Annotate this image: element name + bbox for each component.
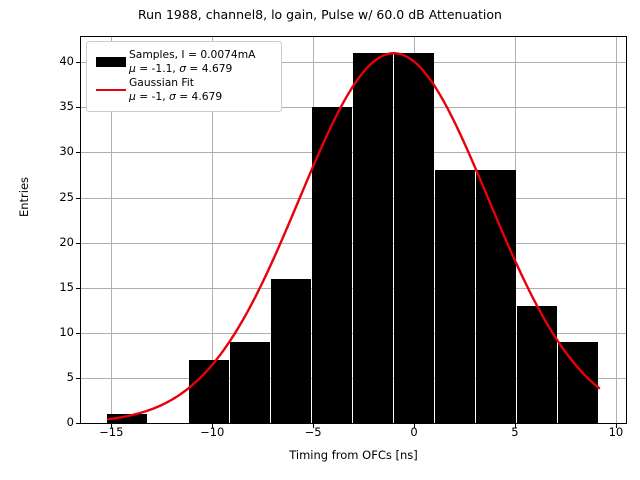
legend-stats-gaussian-fit: μ = -1, σ = 4.679: [129, 90, 222, 104]
y-tick-mark: [76, 107, 80, 108]
y-axis-label: Entries: [17, 137, 31, 257]
chart-title: Run 1988, channel8, lo gain, Pulse w/ 60…: [0, 7, 640, 22]
legend-stats-samples: μ = -1.1, σ = 4.679: [129, 62, 255, 76]
y-tick-mark: [76, 62, 80, 63]
x-tick-label: 10: [586, 425, 640, 439]
y-tick-mark: [76, 378, 80, 379]
x-tick-mark: [515, 424, 516, 428]
legend-label-samples: Samples, I = 0.0074mA: [129, 48, 255, 62]
y-tick-label: 25: [34, 190, 74, 204]
y-tick-mark: [76, 288, 80, 289]
chart-figure: Run 1988, channel8, lo gain, Pulse w/ 60…: [0, 0, 640, 480]
legend-swatch-samples: [93, 51, 129, 73]
y-tick-mark: [76, 243, 80, 244]
legend: Samples, I = 0.0074mA μ = -1.1, σ = 4.67…: [86, 41, 282, 112]
y-tick-label: 15: [34, 280, 74, 294]
legend-item-samples: Samples, I = 0.0074mA μ = -1.1, σ = 4.67…: [93, 48, 275, 75]
legend-label-gaussian-fit: Gaussian Fit: [129, 76, 222, 90]
x-tick-mark: [212, 424, 213, 428]
x-tick-mark: [616, 424, 617, 428]
legend-swatch-gaussian-fit: [93, 79, 129, 101]
x-tick-mark: [414, 424, 415, 428]
x-axis-label: Timing from OFCs [ns]: [80, 448, 627, 462]
y-tick-mark: [76, 423, 80, 424]
y-tick-mark: [76, 152, 80, 153]
legend-item-gaussian-fit: Gaussian Fit μ = -1, σ = 4.679: [93, 76, 275, 103]
y-tick-mark: [76, 198, 80, 199]
y-tick-label: 30: [34, 144, 74, 158]
y-tick-label: 35: [34, 99, 74, 113]
y-tick-label: 0: [34, 415, 74, 429]
x-tick-mark: [111, 424, 112, 428]
y-tick-label: 10: [34, 325, 74, 339]
x-tick-mark: [313, 424, 314, 428]
y-tick-mark: [76, 333, 80, 334]
y-tick-label: 40: [34, 54, 74, 68]
y-tick-label: 20: [34, 235, 74, 249]
y-tick-label: 5: [34, 370, 74, 384]
